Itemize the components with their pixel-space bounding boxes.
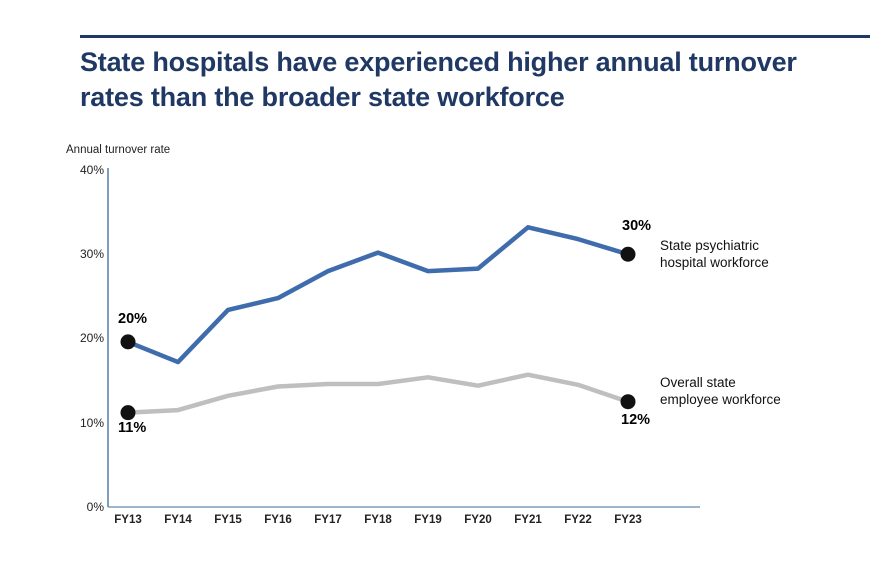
value-label-blue-end: 30% xyxy=(622,218,651,234)
value-label-gray-end: 12% xyxy=(621,412,650,428)
marker-gray-fy23 xyxy=(621,394,636,409)
slide-canvas: State hospitals have experienced higher … xyxy=(0,0,880,566)
value-label-gray-start: 11% xyxy=(118,420,146,436)
marker-blue-fy23 xyxy=(621,247,636,262)
series-line-state-psychiatric-hospital xyxy=(128,227,628,362)
series-label-state-psychiatric-hospital: State psychiatric hospital workforce xyxy=(660,238,769,272)
plot-surface xyxy=(0,0,880,566)
value-label-blue-start: 20% xyxy=(118,311,147,327)
line-chart: Annual turnover rate 40% 30% 20% 10% 0% … xyxy=(0,0,880,566)
marker-blue-fy13 xyxy=(121,334,136,349)
marker-gray-fy13 xyxy=(121,405,136,420)
series-label-overall-state-employee: Overall state employee workforce xyxy=(660,375,781,409)
series-line-overall-state-employee xyxy=(128,375,628,413)
